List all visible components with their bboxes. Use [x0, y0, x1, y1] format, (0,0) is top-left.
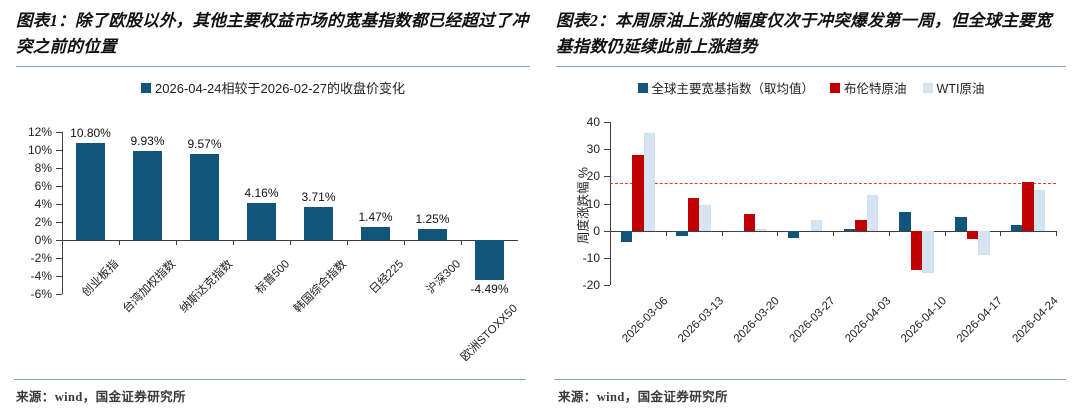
- x-axis-category-label: 台湾加权指数: [61, 256, 178, 373]
- y-axis-tick-mark: [604, 285, 610, 286]
- bar: [676, 231, 688, 236]
- y-axis-tick-label: 30: [558, 142, 600, 156]
- figure-2-panel: 图表2：本周原油上涨的幅度仅次于冲突爆发第一周，但全球主要宽基指数仍延续此前上涨…: [540, 0, 1080, 413]
- x-axis-tick-mark: [722, 231, 723, 236]
- x-axis-category-label: 2026-04-03: [779, 295, 894, 410]
- x-axis-tick-mark: [119, 240, 120, 245]
- bar-value-label: 9.57%: [171, 137, 239, 151]
- figure-1-legend: 2026-04-24相较于2026-02-27的收盘价变化: [16, 78, 530, 97]
- bar: [76, 143, 106, 240]
- legend-swatch-icon: [638, 83, 648, 93]
- y-axis-tick-label: 10%: [16, 143, 52, 157]
- figure-2-source-divider: [554, 379, 1066, 380]
- bar: [744, 214, 756, 230]
- x-axis-tick-mark: [404, 240, 405, 245]
- y-axis-tick-label: -20: [558, 278, 600, 292]
- x-axis-tick-mark: [833, 231, 834, 236]
- y-axis-title: 周度涨跌幅 %: [573, 155, 592, 255]
- bar: [632, 155, 644, 231]
- y-axis-tick-label: 0%: [16, 233, 52, 247]
- bar: [247, 203, 277, 240]
- x-axis-category-label: 欧洲STOXX50: [403, 300, 520, 417]
- bar: [1022, 182, 1034, 231]
- bar: [855, 220, 867, 231]
- figure-2-title: 图表2：本周原油上涨的幅度仅次于冲突爆发第一周，但全球主要宽基指数仍延续此前上涨…: [556, 0, 1066, 60]
- bar: [621, 231, 633, 242]
- bar: [955, 217, 967, 231]
- y-axis-tick-mark: [56, 294, 62, 295]
- legend-item: 布伦特原油: [830, 78, 907, 97]
- x-axis-tick-mark: [347, 240, 348, 245]
- bar: [190, 154, 220, 240]
- x-axis-category-label: 纳斯达克指数: [118, 256, 235, 373]
- legend-label: WTI原油: [937, 78, 985, 97]
- y-axis-line: [610, 122, 611, 285]
- bar: [133, 151, 163, 240]
- bar-value-label: 3.71%: [285, 190, 353, 204]
- y-axis-tick-label: 6%: [16, 179, 52, 193]
- x-axis-tick-mark: [777, 231, 778, 236]
- y-axis-line: [62, 132, 63, 294]
- x-axis-tick-mark: [62, 240, 63, 245]
- bar: [978, 231, 990, 255]
- x-axis-tick-mark: [666, 231, 667, 236]
- bar: [418, 229, 448, 240]
- bar: [361, 227, 391, 240]
- bar: [899, 212, 911, 231]
- y-axis-tick-label: 12%: [16, 125, 52, 139]
- figure-1-source: 来源：wind，国金证券研究所: [16, 386, 186, 405]
- figure-2-legend: 全球主要宽基指数（取均值）布伦特原油WTI原油: [556, 78, 1066, 97]
- x-axis-category-label: 2026-04-10: [835, 295, 950, 410]
- bar-value-label: 1.25%: [399, 212, 467, 226]
- bar: [688, 198, 700, 231]
- x-axis-tick-mark: [233, 240, 234, 245]
- figure-1-chart: 12%10%8%6%4%2%0%-2%-4%-6%10.80%创业板指9.93%…: [16, 118, 524, 373]
- legend-label: 2026-04-24相较于2026-02-27的收盘价变化: [155, 78, 405, 97]
- reference-line: [610, 183, 1056, 184]
- x-axis-category-label: 韩国综合指数: [232, 256, 349, 373]
- figure-2-title-divider: [556, 66, 1066, 67]
- figure-1-panel: 图表1：除了欧股以外，其他主要权益市场的宽基指数都已经超过了冲突之前的位置 20…: [0, 0, 540, 413]
- x-axis-tick-mark: [1056, 231, 1057, 236]
- x-axis-tick-mark: [610, 231, 611, 236]
- legend-label: 布伦特原油: [844, 78, 907, 97]
- figure-2-source: 来源：wind，国金证券研究所: [558, 386, 728, 405]
- bar: [755, 229, 767, 231]
- y-axis-tick-label: 4%: [16, 197, 52, 211]
- bar: [922, 231, 934, 273]
- bar: [475, 240, 505, 280]
- bar: [1034, 190, 1046, 231]
- legend-swatch-icon: [141, 83, 151, 93]
- x-axis-tick-mark: [461, 240, 462, 245]
- y-axis-tick-label: -4%: [16, 269, 52, 283]
- legend-swatch-icon: [830, 83, 840, 93]
- figure-1-title: 图表1：除了欧股以外，其他主要权益市场的宽基指数都已经超过了冲突之前的位置: [16, 0, 530, 60]
- bar: [844, 229, 856, 231]
- bar-value-label: -4.49%: [456, 282, 524, 296]
- x-axis-tick-mark: [945, 231, 946, 236]
- bar: [811, 220, 823, 231]
- bar: [911, 231, 923, 270]
- figure-2-chart: 403020100-10-20周度涨跌幅 %2026-03-062026-03-…: [558, 112, 1062, 374]
- x-axis-tick-mark: [290, 240, 291, 245]
- y-axis-tick-label: 8%: [16, 161, 52, 175]
- bar: [699, 205, 711, 231]
- bar: [304, 207, 334, 240]
- figure-1-source-divider: [14, 379, 526, 380]
- x-axis-category-label: 标普500: [175, 256, 292, 373]
- figure-page: 图表1：除了欧股以外，其他主要权益市场的宽基指数都已经超过了冲突之前的位置 20…: [0, 0, 1080, 413]
- bar: [967, 231, 979, 239]
- bar: [1011, 225, 1023, 230]
- bar: [732, 231, 744, 232]
- x-axis-tick-mark: [1000, 231, 1001, 236]
- legend-swatch-icon: [923, 83, 933, 93]
- x-axis-category-label: 2026-04-24: [946, 295, 1061, 410]
- figure-1-title-divider: [16, 66, 530, 67]
- x-axis-category-label: 2026-04-17: [890, 295, 1005, 410]
- y-axis-tick-label: -6%: [16, 287, 52, 301]
- legend-item: 全球主要宽基指数（取均值）: [638, 78, 815, 97]
- legend-item: 2026-04-24相较于2026-02-27的收盘价变化: [141, 78, 405, 97]
- legend-item: WTI原油: [923, 78, 985, 97]
- x-axis-tick-mark: [889, 231, 890, 236]
- bar: [788, 231, 800, 238]
- y-axis-tick-label: 2%: [16, 215, 52, 229]
- y-axis-tick-label: 40: [558, 115, 600, 129]
- x-axis-tick-mark: [176, 240, 177, 245]
- x-axis-category-label: 2026-03-27: [723, 295, 838, 410]
- x-axis-category-label: 日经225: [289, 256, 406, 373]
- x-axis-category-label: 沪深300: [346, 256, 463, 373]
- legend-label: 全球主要宽基指数（取均值）: [652, 78, 815, 97]
- bar: [644, 133, 656, 231]
- y-axis-tick-label: -2%: [16, 251, 52, 265]
- bar: [867, 195, 879, 230]
